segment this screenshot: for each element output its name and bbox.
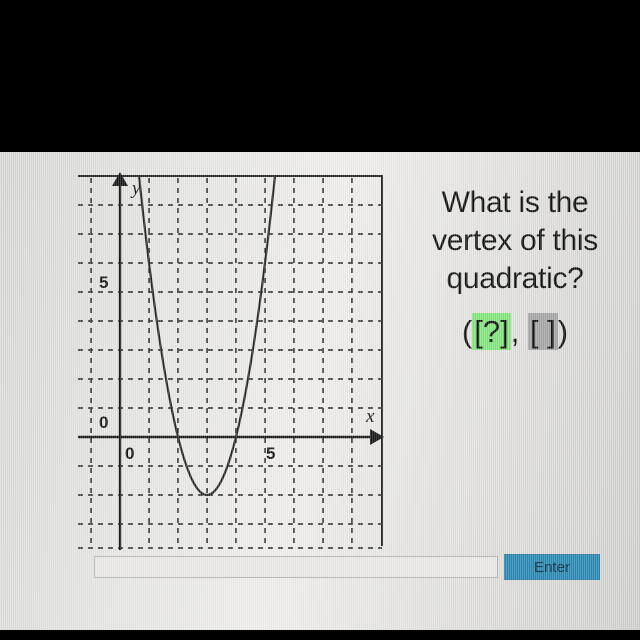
x-axis-label: x (365, 406, 375, 427)
x-tick-label-5: 5 (266, 444, 275, 463)
graph-frame (78, 176, 382, 546)
answer-input[interactable] (94, 556, 498, 578)
quadratic-graph: y x 5 0 0 5 (78, 172, 384, 550)
screen-area: y x 5 0 0 5 What is the vertex of this q… (0, 152, 640, 630)
y-axis (112, 172, 128, 550)
letterbox-top (0, 0, 640, 152)
y-tick-label-5: 5 (99, 273, 108, 292)
answer-close-paren: ) (558, 314, 568, 349)
answer-open-paren: ( (462, 314, 472, 349)
x-tick-label-0: 0 (125, 444, 134, 463)
question-line-3: quadratic? (402, 260, 628, 298)
question-line-1: What is the (402, 184, 628, 222)
y-tick-label-0: 0 (99, 413, 108, 432)
question-line-2: vertex of this (402, 222, 628, 260)
x-axis (78, 429, 384, 445)
question-block: What is the vertex of this quadratic? ([… (402, 184, 628, 352)
graph-canvas: y x 5 0 0 5 (78, 172, 384, 550)
answer-blank-y[interactable]: [ ] (528, 313, 558, 350)
letterbox-bottom (0, 630, 640, 640)
answer-comma: , (511, 314, 528, 349)
grid-horizontal (78, 205, 382, 548)
enter-button[interactable]: Enter (504, 554, 600, 580)
answer-blank-x[interactable]: [?] (472, 313, 510, 350)
answer-template: ([?], [ ]) (402, 312, 628, 352)
